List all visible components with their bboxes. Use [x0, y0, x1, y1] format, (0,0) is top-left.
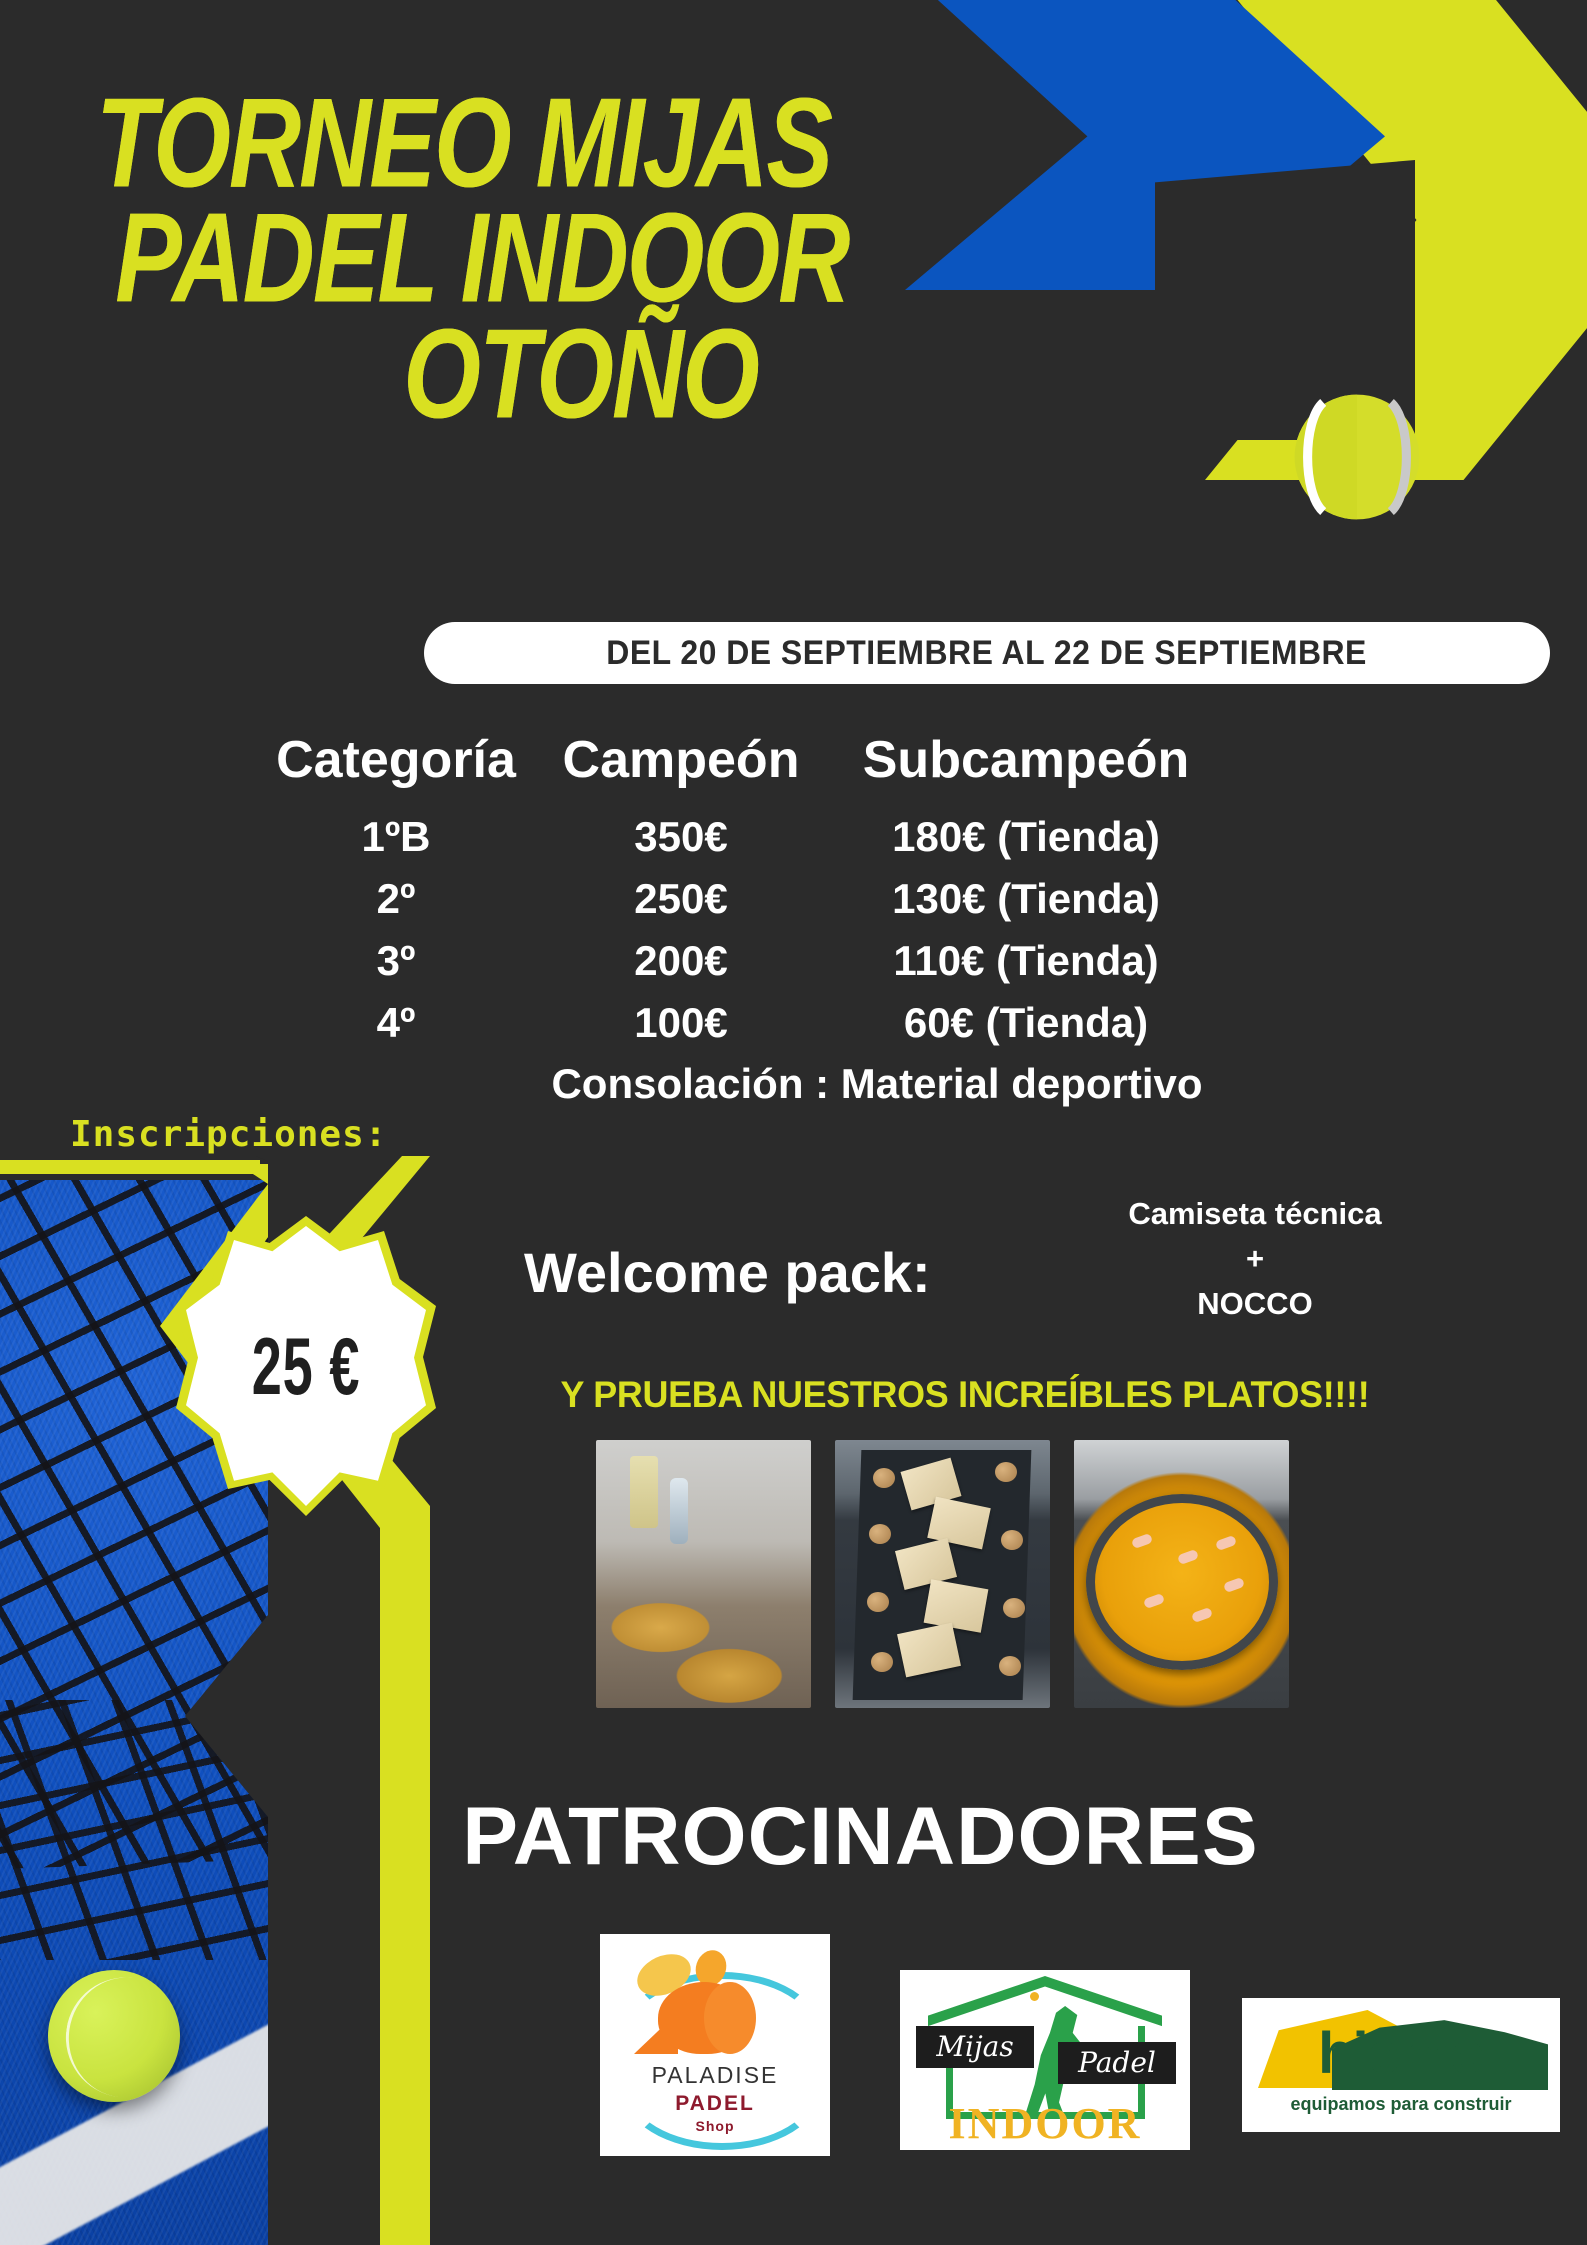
- tortilla-espanola-photo: [596, 1440, 811, 1708]
- cell-category: 4º: [246, 992, 546, 1054]
- welcome-pack-contents: Camiseta técnica + NOCCO: [1090, 1192, 1420, 1327]
- prize-table-header-row: Categoría Campeón Subcampeón: [246, 730, 1376, 806]
- cell-champion: 250€: [546, 868, 816, 930]
- paladise-name-line-2: PADEL: [600, 2092, 830, 2116]
- cell-category: 2º: [246, 868, 546, 930]
- registration-price-text: 25 €: [199, 1183, 412, 1549]
- walnut: [871, 1652, 893, 1672]
- walnut: [869, 1524, 891, 1544]
- sponsors-title: PATROCINADORES: [462, 1790, 1258, 1884]
- mijas-ball-icon: [1030, 1992, 1039, 2001]
- tennis-ball-icon: [1292, 392, 1422, 522]
- poster-title: TORNEO MIJAS PADEL INDOOR OTOÑO: [0, 90, 1320, 410]
- walnut: [995, 1462, 1017, 1482]
- cell-runnerup: 130€ (Tienda): [816, 868, 1236, 930]
- walnut: [1001, 1530, 1023, 1550]
- title-line-2: PADEL INDOOR: [0, 205, 1267, 314]
- table-row: 1ºB 350€ 180€ (Tienda): [246, 806, 1376, 868]
- poster-root: TORNEO MIJAS PADEL INDOOR OTOÑO DEL 20 D…: [0, 0, 1587, 2245]
- table-row: 4º 100€ 60€ (Tienda): [246, 992, 1376, 1054]
- table-row: 2º 250€ 130€ (Tienda): [246, 868, 1376, 930]
- paella-pan: [1086, 1494, 1278, 1670]
- paladise-body-highlight: [704, 1982, 756, 2054]
- cell-category: 1ºB: [246, 806, 546, 868]
- cheese-and-walnuts-platter-photo: [835, 1440, 1050, 1708]
- sponsor-logo-paladise: PALADISE PADEL Shop: [600, 1934, 830, 2156]
- tournament-dates-text: DEL 20 DE SEPTIEMBRE AL 22 DE SEPTIEMBRE: [607, 634, 1368, 673]
- cell-champion: 100€: [546, 992, 816, 1054]
- welcome-pack-label: Welcome pack:: [524, 1240, 931, 1305]
- mijas-word-2: Padel: [1058, 2041, 1176, 2083]
- registration-label: Inscripciones:: [70, 1114, 387, 1155]
- welcome-pack-item-2: NOCCO: [1090, 1282, 1420, 1327]
- mijas-word-3: INDOOR: [900, 2098, 1190, 2149]
- yellow-accent-bar: [0, 1160, 260, 1174]
- tournament-dates-banner: DEL 20 DE SEPTIEMBRE AL 22 DE SEPTIEMBRE: [424, 622, 1550, 684]
- welcome-pack-item-1: Camiseta técnica: [1090, 1192, 1420, 1237]
- welcome-pack-plus: +: [1090, 1237, 1420, 1282]
- prize-header-runnerup: Subcampeón: [816, 730, 1236, 806]
- food-photo-gallery: [596, 1440, 1576, 1708]
- consolation-prize-text: Consolación : Material deportivo: [246, 1060, 1376, 1108]
- hiemo-tagline: equipamos para construir: [1242, 2094, 1560, 2115]
- paladise-name-line-3: Shop: [600, 2118, 830, 2134]
- cell-champion: 200€: [546, 930, 816, 992]
- sponsor-logo-hiemo: hiemo equipamos para construir: [1242, 1998, 1560, 2132]
- cell-category: 3º: [246, 930, 546, 992]
- sponsors-row: PALADISE PADEL Shop Mijas Padel INDOOR h…: [600, 1900, 1560, 2180]
- sponsor-logo-mijas-padel-indoor: Mijas Padel INDOOR: [900, 1970, 1190, 2150]
- walnut: [867, 1592, 889, 1612]
- prize-table: Categoría Campeón Subcampeón 1ºB 350€ 18…: [246, 730, 1376, 1108]
- walnut: [999, 1656, 1021, 1676]
- prize-header-category: Categoría: [246, 730, 546, 806]
- prize-header-champion: Campeón: [546, 730, 816, 806]
- cell-champion: 350€: [546, 806, 816, 868]
- walnut: [1003, 1598, 1025, 1618]
- mijas-word-1: Mijas: [916, 2025, 1034, 2067]
- paella-with-shrimp-photo: [1074, 1440, 1289, 1708]
- table-row: 3º 200€ 110€ (Tienda): [246, 930, 1376, 992]
- food-promo-text: Y PRUEBA NUESTROS INCREÍBLES PLATOS!!!!: [561, 1374, 1370, 1416]
- hiemo-wordmark: hiemo: [1242, 2020, 1560, 2087]
- title-line-3: OTOÑO: [0, 321, 1267, 430]
- padel-net-mesh-lower: [0, 1700, 430, 1960]
- cell-runnerup: 60€ (Tienda): [816, 992, 1236, 1054]
- title-line-1: TORNEO MIJAS: [0, 90, 1267, 199]
- paladise-name-line-1: PALADISE: [600, 2062, 830, 2089]
- cell-runnerup: 180€ (Tienda): [816, 806, 1236, 868]
- tennis-ball-photo: [48, 1970, 180, 2102]
- registration-price-badge: 25 €: [176, 1216, 436, 1516]
- cell-runnerup: 110€ (Tienda): [816, 930, 1236, 992]
- walnut: [873, 1468, 895, 1488]
